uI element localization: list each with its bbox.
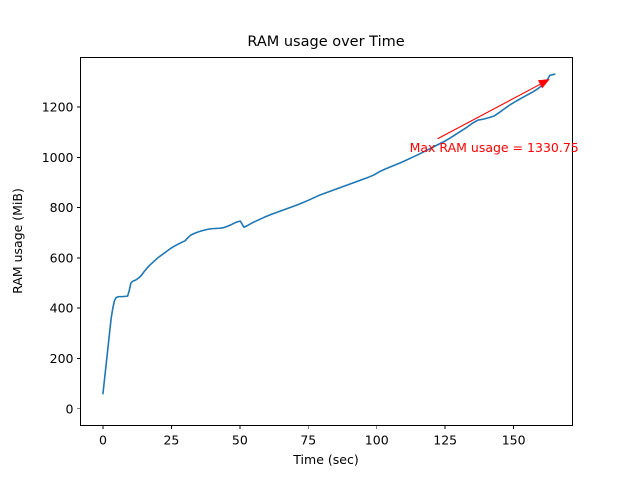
- y-tick-label: 200: [50, 351, 74, 366]
- y-tick-label: 1200: [42, 100, 74, 115]
- x-axis-label: Time (sec): [292, 452, 358, 467]
- x-tick-label: 125: [433, 433, 457, 448]
- y-tick-label: 600: [50, 250, 74, 265]
- x-tick-label: 0: [99, 433, 107, 448]
- x-tick-label: 25: [163, 433, 179, 448]
- y-tick-label: 800: [50, 200, 74, 215]
- x-tick-label: 75: [300, 433, 316, 448]
- annotation-label: Max RAM usage = 1330.75: [410, 140, 579, 155]
- page-title: RAM usage over Time: [247, 34, 404, 50]
- y-tick-label: 1000: [42, 150, 74, 165]
- y-axis-label: RAM usage (MiB): [10, 188, 25, 294]
- y-tick-label: 400: [50, 301, 74, 316]
- x-tick-label: 50: [232, 433, 248, 448]
- x-tick-label: 150: [502, 433, 526, 448]
- figure-background: [0, 0, 640, 480]
- x-tick-label: 100: [365, 433, 389, 448]
- ram-usage-line-chart: 0255075100125150 020040060080010001200 M…: [0, 0, 640, 480]
- chart-figure: 0255075100125150 020040060080010001200 M…: [0, 0, 640, 480]
- y-tick-label: 0: [66, 401, 74, 416]
